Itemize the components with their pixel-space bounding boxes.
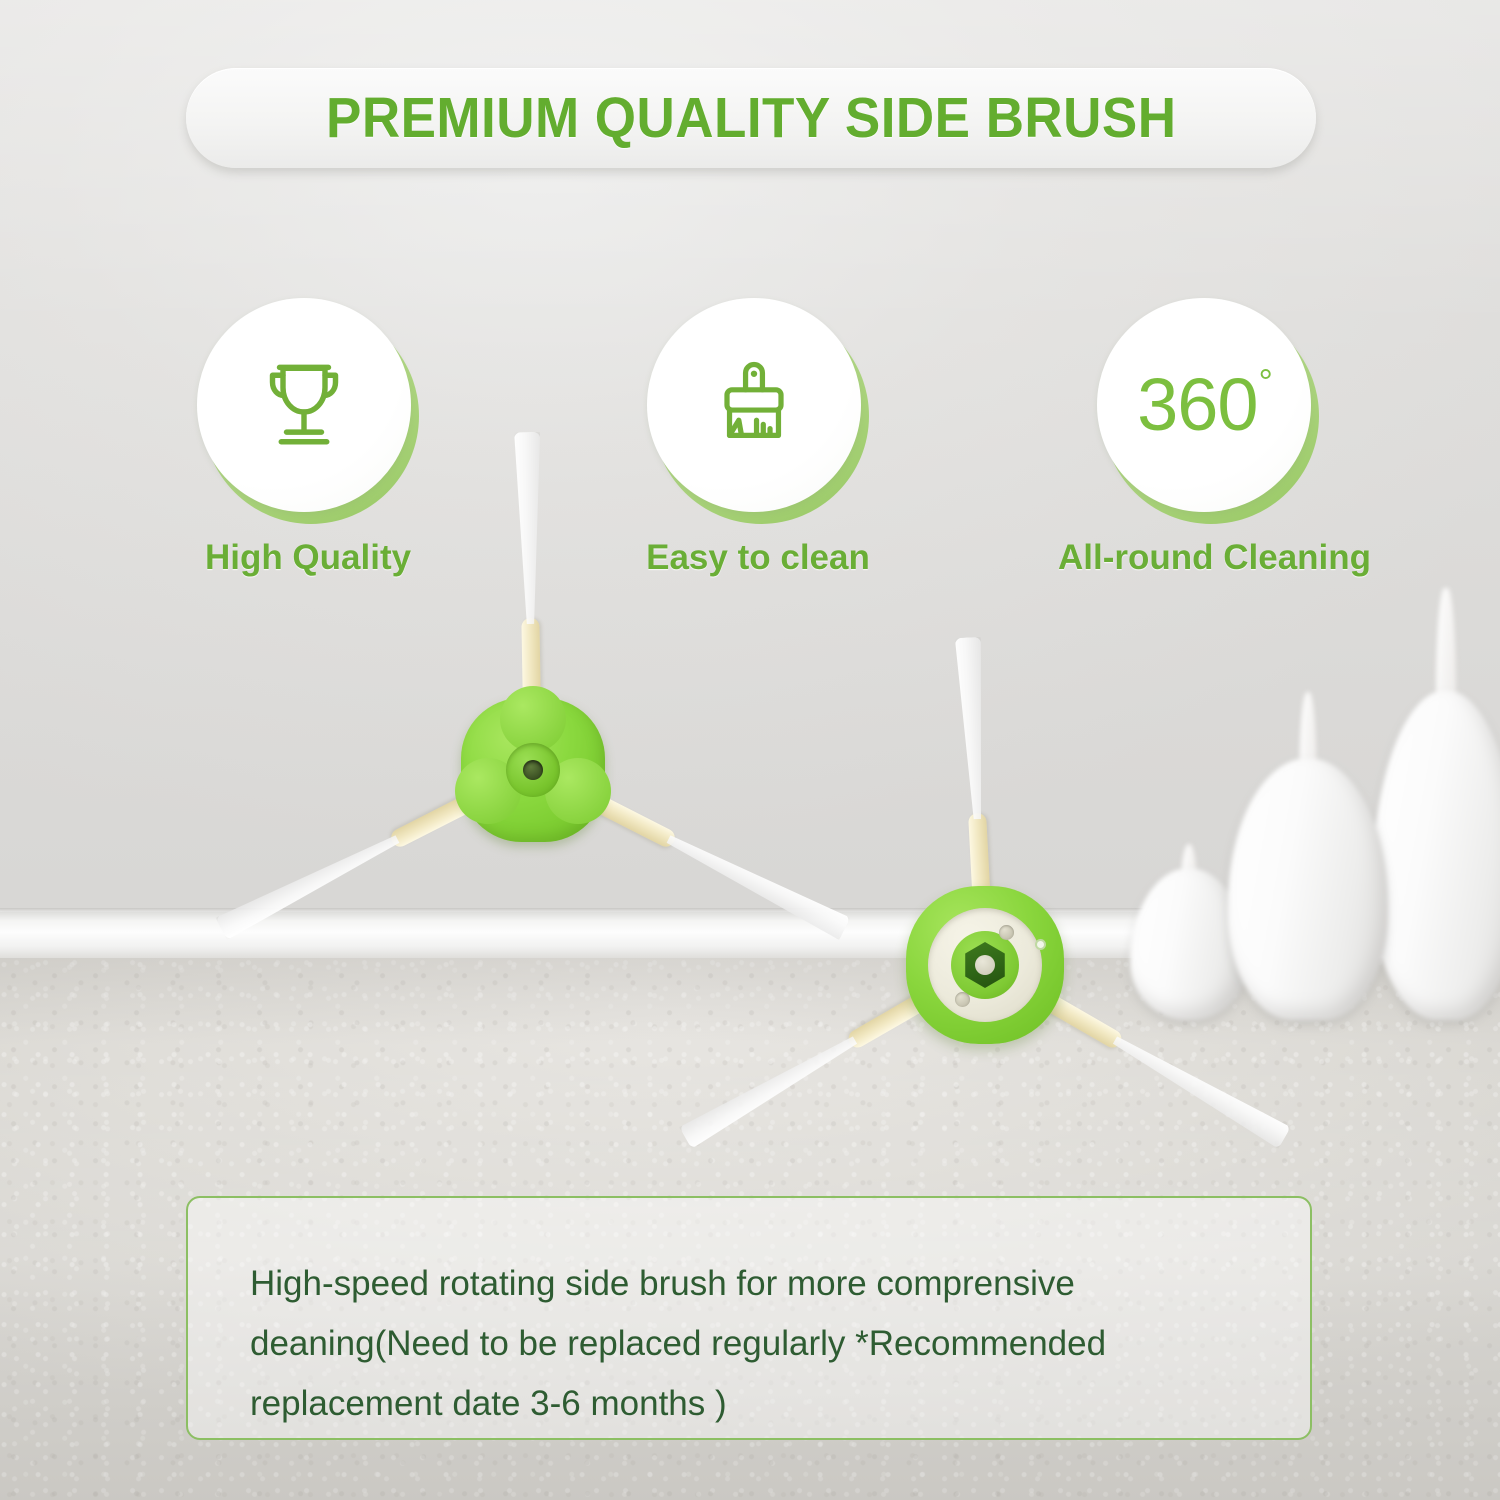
- trophy-icon: [248, 349, 360, 461]
- feature-all-round-cleaning: 360° All-round Cleaning: [1058, 298, 1358, 578]
- feature-label-high-quality: High Quality: [158, 538, 458, 578]
- feature-label-easy-to-clean: Easy to clean: [608, 538, 908, 578]
- vase-group: [1120, 600, 1500, 1020]
- description-text: High-speed rotating side brush for more …: [250, 1254, 1248, 1435]
- badge-wrap-easy-to-clean: [647, 298, 869, 520]
- brush2-center-pin: [975, 955, 995, 975]
- feature-label-all-round-cleaning: All-round Cleaning: [1058, 538, 1358, 578]
- description-callout: High-speed rotating side brush for more …: [186, 1196, 1312, 1440]
- brush2-vent-hole: [1035, 939, 1046, 950]
- badge-circle: [647, 298, 861, 512]
- vase-tall-body: [1372, 690, 1500, 1020]
- badge-circle: 360°: [1097, 298, 1311, 512]
- vase-medium: [1228, 690, 1388, 1020]
- badge-wrap-high-quality: [197, 298, 419, 520]
- feature-high-quality: High Quality: [158, 298, 458, 578]
- vase-medium-body: [1228, 758, 1388, 1020]
- 360-degree-text: 360°: [1137, 368, 1271, 442]
- vase-tall: [1372, 590, 1500, 1020]
- brush2-screw-bottom: [955, 992, 970, 1007]
- degree-symbol: °: [1259, 361, 1272, 402]
- title-banner: PREMIUM QUALITY SIDE BRUSH: [186, 68, 1316, 168]
- feature-easy-to-clean: Easy to clean: [608, 298, 908, 578]
- badge-circle: [197, 298, 411, 512]
- product-marketing-image: PREMIUM QUALITY SIDE BRUSH: [0, 0, 1500, 1500]
- brush1-center-hole: [523, 760, 543, 780]
- feature-badge-row: High Quality: [0, 298, 1500, 598]
- paint-brush-icon: [700, 351, 808, 459]
- 360-value: 360: [1137, 363, 1257, 446]
- badge-wrap-all-round-cleaning: 360°: [1097, 298, 1319, 520]
- page-title: PREMIUM QUALITY SIDE BRUSH: [326, 85, 1176, 151]
- brush2-screw-top: [999, 925, 1014, 940]
